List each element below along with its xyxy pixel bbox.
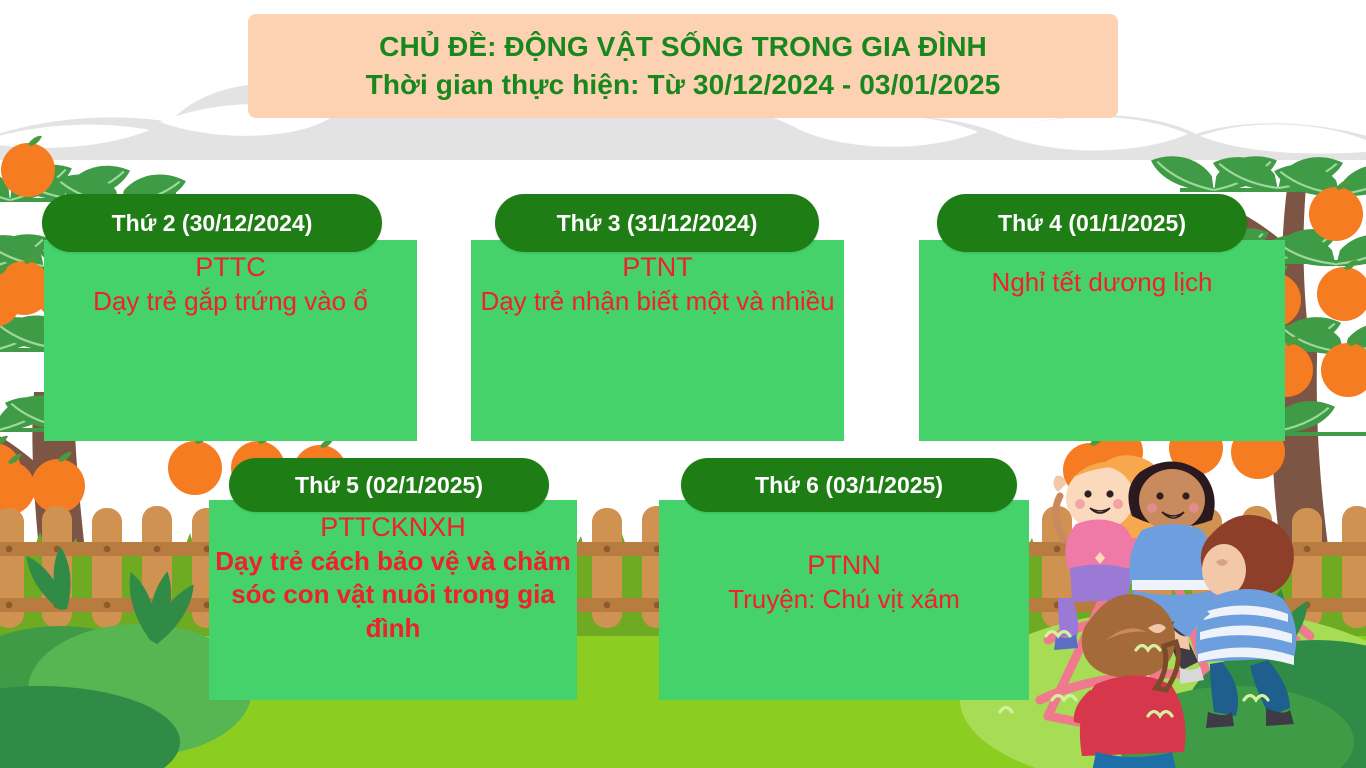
day-card-body: Nghỉ tết dương lịch: [919, 240, 1285, 441]
climbing-dome: [1040, 500, 1310, 730]
day-card-thursday[interactable]: PTTCKNXH Dạy trẻ cách bảo vệ và chăm sóc…: [209, 458, 581, 702]
activity-code: PTNT: [614, 250, 701, 285]
day-card-body: PTNN Truyện: Chú vịt xám: [659, 500, 1029, 700]
activity-description: Dạy trẻ gắp trứng vào ổ: [87, 285, 374, 318]
day-label-pill[interactable]: Thứ 5 (02/1/2025): [229, 458, 549, 512]
theme-title-banner: CHỦ ĐỀ: ĐỘNG VẬT SỐNG TRONG GIA ĐÌNH Thờ…: [248, 14, 1118, 118]
day-card-tuesday[interactable]: PTNT Dạy trẻ nhận biết một và nhiều Thứ …: [471, 194, 848, 447]
slide-canvas: CHỦ ĐỀ: ĐỘNG VẬT SỐNG TRONG GIA ĐÌNH Thờ…: [0, 0, 1366, 768]
day-card-friday[interactable]: PTNN Truyện: Chú vịt xám Thứ 6 (03/1/202…: [659, 458, 1033, 702]
child-girl-pink: [1053, 455, 1166, 650]
bushes-right: [1118, 588, 1366, 768]
day-card-wednesday[interactable]: Nghỉ tết dương lịch Thứ 4 (01/1/2025): [919, 194, 1289, 447]
day-card-body: PTTC Dạy trẻ gắp trứng vào ổ: [44, 240, 417, 441]
day-label-pill[interactable]: Thứ 2 (30/12/2024): [42, 194, 382, 252]
day-label-pill[interactable]: Thứ 4 (01/1/2025): [937, 194, 1247, 252]
activity-code: PTNN: [799, 548, 889, 583]
theme-title-line-2: Thời gian thực hiện: Từ 30/12/2024 - 03/…: [366, 66, 1001, 104]
activity-code: PTTCKNXH: [312, 510, 474, 545]
activity-description: Dạy trẻ nhận biết một và nhiều: [474, 285, 840, 318]
activity-description: Dạy trẻ cách bảo vệ và chăm sóc con vật …: [209, 545, 577, 645]
day-card-body: PTNT Dạy trẻ nhận biết một và nhiều: [471, 240, 844, 441]
activity-description: Truyện: Chú vịt xám: [722, 583, 966, 616]
theme-title-line-1: CHỦ ĐỀ: ĐỘNG VẬT SỐNG TRONG GIA ĐÌNH: [379, 28, 987, 66]
day-card-monday[interactable]: PTTC Dạy trẻ gắp trứng vào ổ Thứ 2 (30/1…: [42, 194, 419, 447]
activity-code: PTTC: [187, 250, 274, 285]
activity-description: Nghỉ tết dương lịch: [986, 266, 1219, 299]
day-card-body: PTTCKNXH Dạy trẻ cách bảo vệ và chăm sóc…: [209, 500, 577, 700]
child-red-shirt: [1074, 594, 1186, 768]
day-label-pill[interactable]: Thứ 3 (31/12/2024): [495, 194, 819, 252]
child-boy-striped: [1172, 515, 1296, 728]
child-boy-blue: [1124, 461, 1216, 684]
day-label-pill[interactable]: Thứ 6 (03/1/2025): [681, 458, 1017, 512]
